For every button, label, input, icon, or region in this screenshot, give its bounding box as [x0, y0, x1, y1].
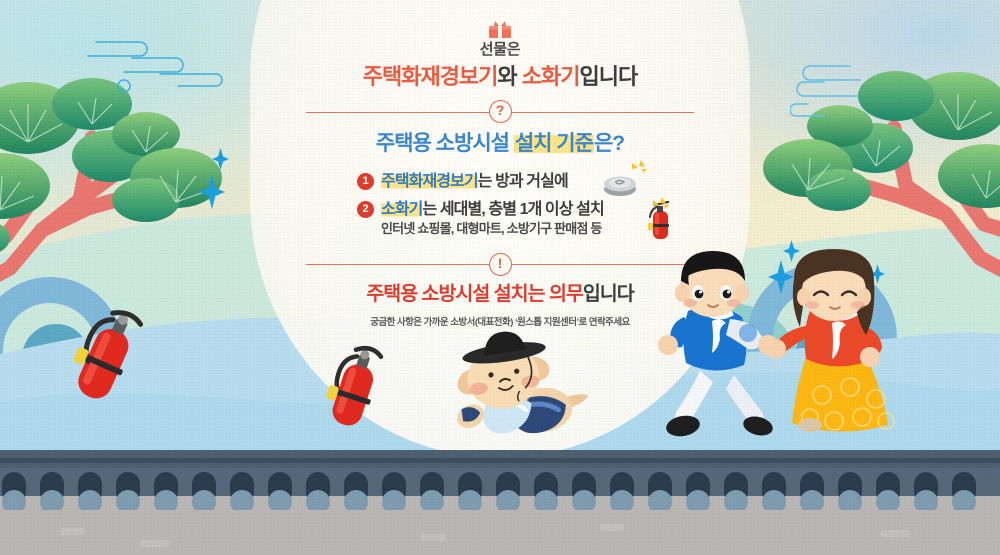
- question-mark-icon: ?: [489, 100, 512, 123]
- paper-grain-overlay: [0, 0, 1000, 555]
- poster-canvas: 선물은 주택화재경보기와 소화기입니다 ? 주택용 소방시설 설치 기준은? 1…: [0, 0, 1000, 555]
- alert-mark-icon: !: [489, 253, 512, 276]
